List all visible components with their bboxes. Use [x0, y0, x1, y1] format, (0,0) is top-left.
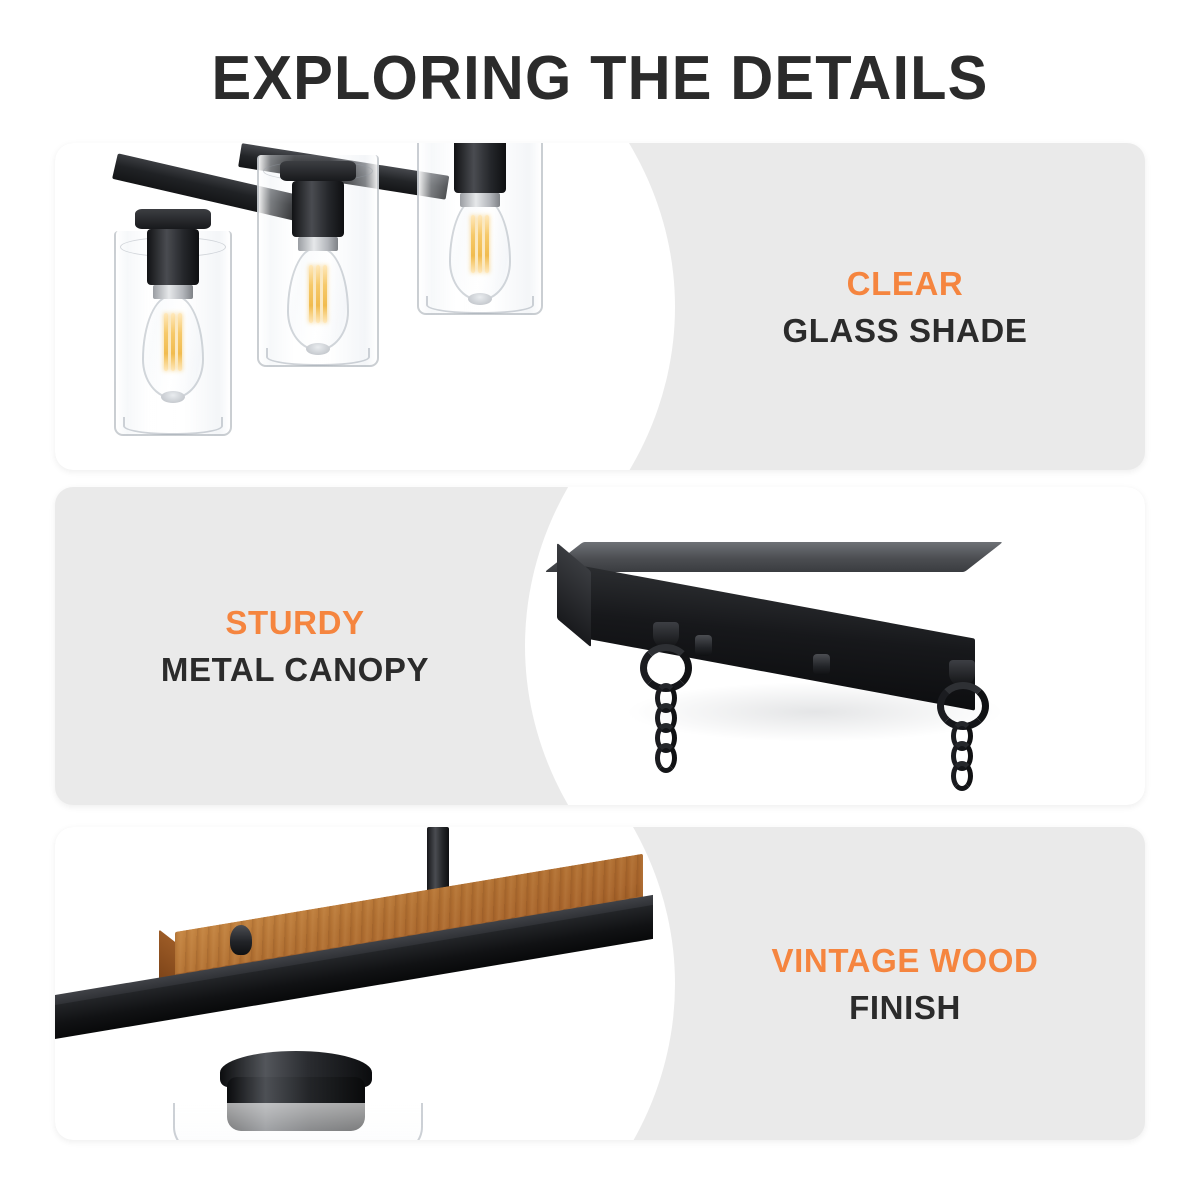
product-photo-wood-beam	[55, 827, 715, 1140]
socket-body	[454, 143, 506, 193]
bulb-base-cap	[161, 391, 185, 403]
lamp-socket	[280, 161, 356, 251]
hanging-chain-left	[655, 683, 677, 773]
bulb-filament	[162, 313, 184, 371]
black-metal-bar	[55, 995, 655, 1041]
caption-sturdy-metal-canopy: STURDY METAL CANOPY	[80, 602, 510, 691]
beam-knob	[230, 925, 252, 955]
lamp-socket	[442, 143, 518, 207]
feature-panel-vintage-wood-finish: VINTAGE WOOD FINISH	[55, 827, 1145, 1140]
bulb-envelope	[287, 247, 349, 351]
bulb-base-cap	[306, 343, 330, 355]
caption-accent-line: CLEAR	[690, 262, 1120, 303]
socket-collar	[280, 161, 356, 181]
feature-panel-sturdy-metal-canopy: STURDY METAL CANOPY	[55, 487, 1145, 805]
socket-thread	[460, 193, 500, 207]
socket-body	[292, 181, 344, 237]
bulb-base-cap	[468, 293, 492, 305]
canopy-front-face	[583, 566, 975, 711]
glass-shade-bottom	[173, 1103, 423, 1140]
caption-accent-line: VINTAGE WOOD	[690, 939, 1120, 980]
page-title: EXPLORING THE DETAILS	[24, 40, 1176, 118]
bulb-filament	[307, 265, 329, 323]
product-photo-glass-shades	[55, 143, 695, 470]
lamp-socket	[135, 209, 211, 299]
socket-collar	[135, 209, 211, 229]
caption-vintage-wood-finish: VINTAGE WOOD FINISH	[690, 939, 1120, 1028]
canopy-screw	[695, 635, 712, 656]
caption-base-line: METAL CANOPY	[80, 649, 510, 690]
bulb-envelope	[142, 295, 204, 399]
canopy-top-face	[545, 542, 1003, 572]
socket-body	[147, 229, 199, 285]
bulb-envelope	[449, 197, 511, 301]
caption-base-line: GLASS SHADE	[690, 310, 1120, 351]
hanging-chain-right	[951, 721, 973, 791]
caption-accent-line: STURDY	[80, 602, 510, 643]
infographic-page: EXPLORING THE DETAILS	[0, 0, 1200, 1200]
socket-thread	[153, 285, 193, 299]
caption-clear-glass-shade: CLEAR GLASS SHADE	[690, 262, 1120, 351]
bar-seam	[487, 972, 492, 1013]
bulb-filament	[469, 215, 491, 273]
canopy-screw	[813, 654, 830, 675]
socket-thread	[298, 237, 338, 251]
caption-base-line: FINISH	[690, 987, 1120, 1028]
product-photo-metal-canopy	[505, 487, 1145, 805]
feature-panel-clear-glass-shade: CLEAR GLASS SHADE	[55, 143, 1145, 470]
chain-link	[655, 743, 677, 773]
chain-link	[951, 761, 973, 791]
